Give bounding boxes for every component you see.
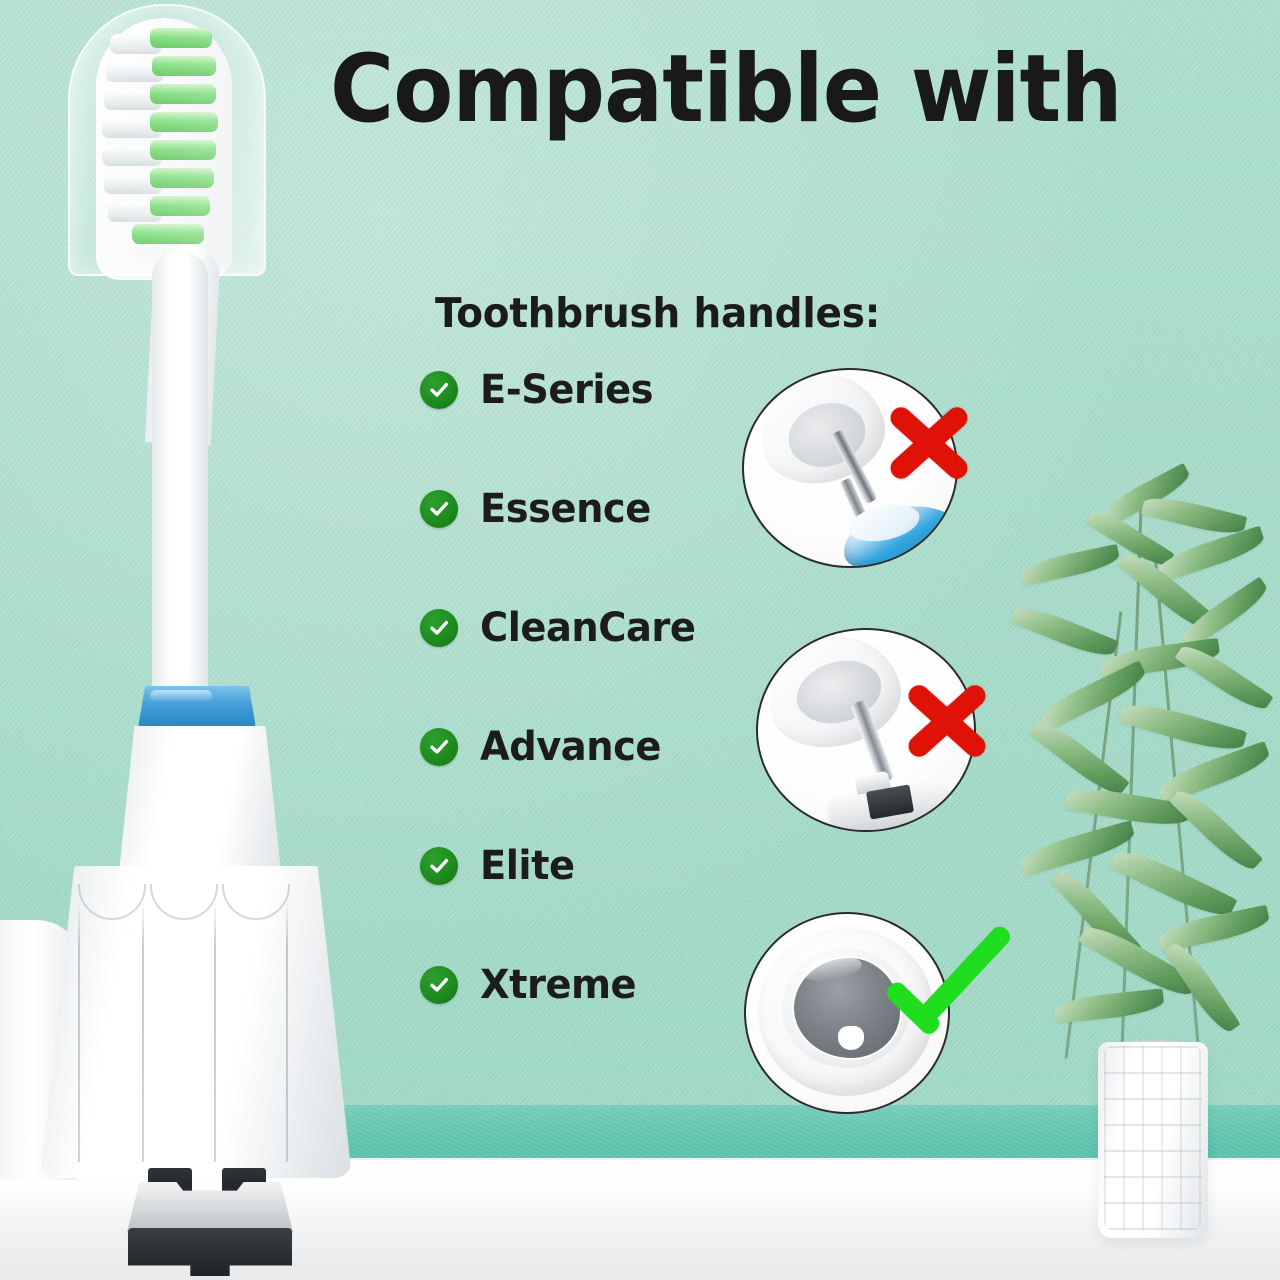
list-item-label: E-Series: [480, 367, 653, 413]
plant-leaf: [1010, 601, 1119, 663]
socket-key-notch: [838, 1026, 864, 1050]
plant-leaf: [1028, 715, 1129, 802]
inset-compatible-socket: [744, 912, 1000, 1124]
body-flute: [286, 900, 288, 1162]
list-item-label: Essence: [480, 486, 651, 532]
inset-incompatible-blue-handle: [742, 368, 974, 572]
green-check-circle-icon: [420, 490, 458, 528]
plant-leaf: [1019, 544, 1121, 586]
toothbrush-head-product: [0, 0, 400, 1280]
green-check-circle-icon: [420, 847, 458, 885]
plant-vase: [1098, 1042, 1208, 1238]
connector-dark-base: [128, 1228, 292, 1276]
plant-leaf: [1119, 697, 1247, 757]
list-item-label: Xtreme: [480, 962, 636, 1008]
section-subtitle: Toothbrush handles:: [435, 289, 880, 337]
list-item: Essence: [420, 479, 750, 539]
body-flute: [78, 900, 80, 1162]
transparent-travel-cap: [68, 4, 266, 276]
list-item-label: Advance: [480, 724, 661, 770]
plant-leaf: [1174, 639, 1273, 716]
inset-photo-disc: [756, 628, 976, 832]
decorative-plant: [980, 470, 1280, 1280]
page-title: Compatible with: [330, 42, 1167, 138]
green-check-circle-icon: [420, 728, 458, 766]
list-item-label: CleanCare: [480, 605, 695, 651]
green-check-circle-icon: [420, 371, 458, 409]
list-item: CleanCare: [420, 598, 750, 658]
infographic-canvas: Compatible with Toothbrush handles: E-Se…: [0, 0, 1280, 1280]
inset-photo-disc: [744, 912, 950, 1114]
list-item-label: Elite: [480, 843, 575, 889]
body-flute: [214, 900, 216, 1162]
green-check-circle-icon: [420, 609, 458, 647]
list-item: Xtreme: [420, 955, 750, 1015]
plant-leaf: [1141, 492, 1247, 539]
inset-incompatible-metal-pin: [756, 628, 996, 838]
list-item: E-Series: [420, 360, 750, 420]
brush-neck: [152, 250, 208, 710]
metal-connector-base: [126, 1182, 294, 1236]
list-item: Elite: [420, 836, 750, 896]
body-flute: [142, 900, 144, 1162]
brush-body-upper: [118, 726, 282, 882]
list-item: Advance: [420, 717, 750, 777]
green-check-circle-icon: [420, 966, 458, 1004]
compatible-handles-list: E-Series Essence CleanCare Advance Elite: [420, 360, 750, 1074]
plant-leaf: [1053, 988, 1165, 1023]
collar-highlight: [150, 690, 212, 702]
inset-photo-disc: [742, 368, 958, 568]
